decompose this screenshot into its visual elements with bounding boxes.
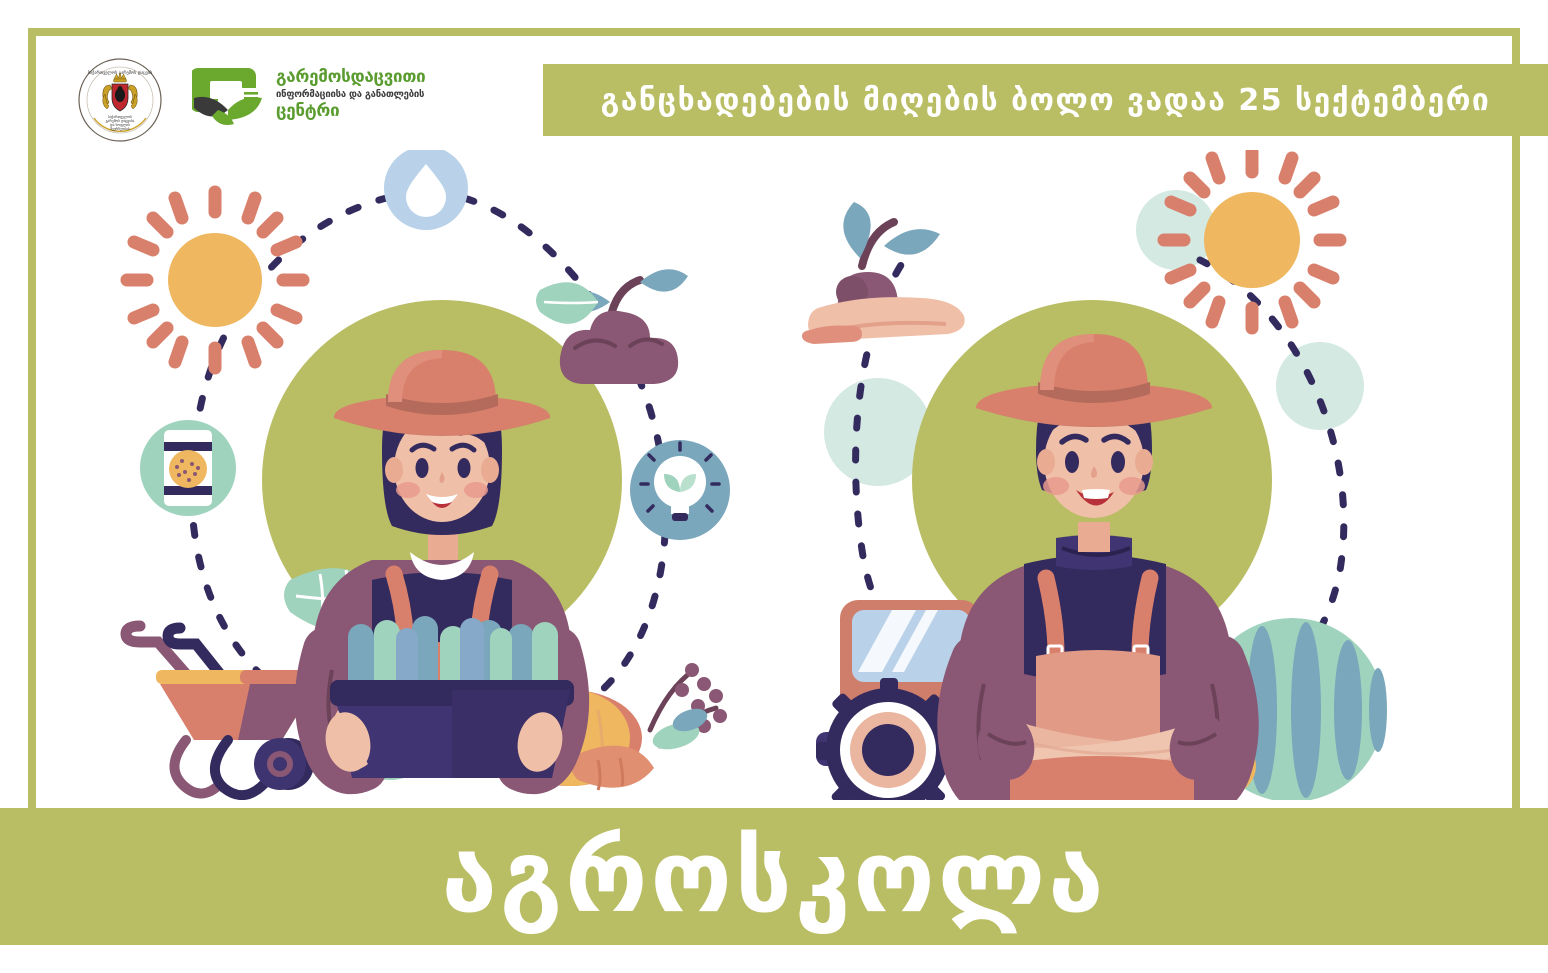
- poster-title: აგროსკოლა: [442, 827, 1107, 927]
- eiec-logo-line3: ცენტრი: [276, 102, 452, 121]
- title-banner: აგროსკოლა: [0, 808, 1548, 945]
- eiec-logo-mark-icon: [192, 64, 268, 134]
- sun-icon: [1164, 152, 1340, 328]
- eiec-logo-line2: ინფორმაციისა და განათლების: [276, 89, 452, 101]
- leaf-small-icon: [536, 282, 598, 324]
- eiec-logo-text: გარემოსდაცვითი ინფორმაციისა და განათლები…: [276, 68, 452, 120]
- male-farmer-scene: [800, 150, 1420, 800]
- eiec-logo-line1: გარემოსდაცვითი: [276, 68, 452, 87]
- circle-accent-icon: [1276, 342, 1364, 430]
- water-drop-icon: [384, 150, 468, 230]
- sun-icon: [127, 192, 303, 368]
- frame-border-top: [28, 28, 1520, 36]
- georgian-state-emblem-icon: საქართველოს გარემოს დაცვის საქართველოს გ…: [78, 58, 162, 142]
- hand-sprout-icon: [802, 202, 965, 344]
- poster-canvas: საქართველოს გარემოს დაცვის საქართველოს გ…: [0, 0, 1548, 973]
- wheelbarrow-icon: [126, 626, 320, 795]
- svg-text:მეურნეობის: მეურნეობის: [110, 127, 130, 131]
- female-farmer-scene: [120, 150, 780, 800]
- eco-bulb-icon: [630, 440, 730, 540]
- jam-jar-icon: [140, 420, 236, 516]
- eiec-logo: გარემოსდაცვითი ინფორმაციისა და განათლები…: [192, 62, 452, 138]
- deadline-banner: განცხადებების მიღების ბოლო ვადაა 25 სექტ…: [543, 64, 1548, 136]
- deadline-banner-text: განცხადებების მიღების ბოლო ვადაა 25 სექტ…: [601, 83, 1491, 118]
